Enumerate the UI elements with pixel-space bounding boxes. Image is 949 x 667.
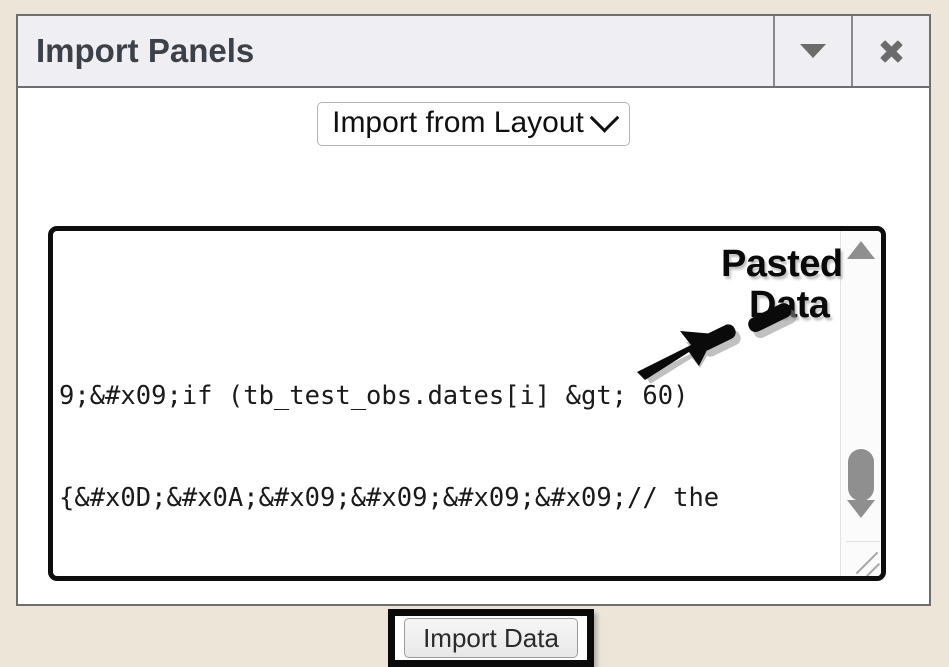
- chevron-down-icon: [590, 102, 620, 132]
- scrollbar-thumb[interactable]: [848, 449, 874, 501]
- close-button[interactable]: [851, 16, 929, 86]
- layout-select-label: Import from Layout: [332, 106, 584, 140]
- import-data-button[interactable]: Import Data: [404, 618, 578, 658]
- textarea-scrollbar[interactable]: [840, 231, 881, 576]
- resize-grip-icon[interactable]: [846, 541, 880, 576]
- import-data-highlight-box: Import Data: [388, 609, 594, 667]
- import-panels-dialog: Import Panels Import from Layout 9;&#x09…: [16, 14, 931, 606]
- import-from-layout-select[interactable]: Import from Layout: [317, 102, 630, 146]
- text-line: {&#x0D;&#x0A;&#x09;&#x09;&#x09;&#x09;// …: [59, 481, 840, 515]
- textarea-text: 9;&#x09;if (tb_test_obs.dates[i] &gt; 60…: [59, 231, 840, 576]
- text-line: [59, 277, 840, 311]
- collapse-button[interactable]: [773, 16, 851, 86]
- scroll-up-arrow-icon[interactable]: [847, 241, 875, 259]
- text-line: 9;&#x09;if (tb_test_obs.dates[i] &gt; 60…: [59, 379, 840, 413]
- paste-data-textarea[interactable]: 9;&#x09;if (tb_test_obs.dates[i] &gt; 60…: [48, 226, 886, 581]
- textarea-content[interactable]: 9;&#x09;if (tb_test_obs.dates[i] &gt; 60…: [53, 231, 840, 576]
- scroll-down-arrow-icon[interactable]: [847, 500, 875, 518]
- page-title: Import Panels: [18, 16, 773, 86]
- layout-select-container: Import from Layout: [18, 102, 929, 146]
- dialog-body: Import from Layout 9;&#x09;if (tb_test_o…: [18, 88, 929, 604]
- chevron-down-icon: [800, 44, 826, 58]
- dialog-titlebar: Import Panels: [18, 16, 929, 88]
- close-icon: [877, 37, 905, 65]
